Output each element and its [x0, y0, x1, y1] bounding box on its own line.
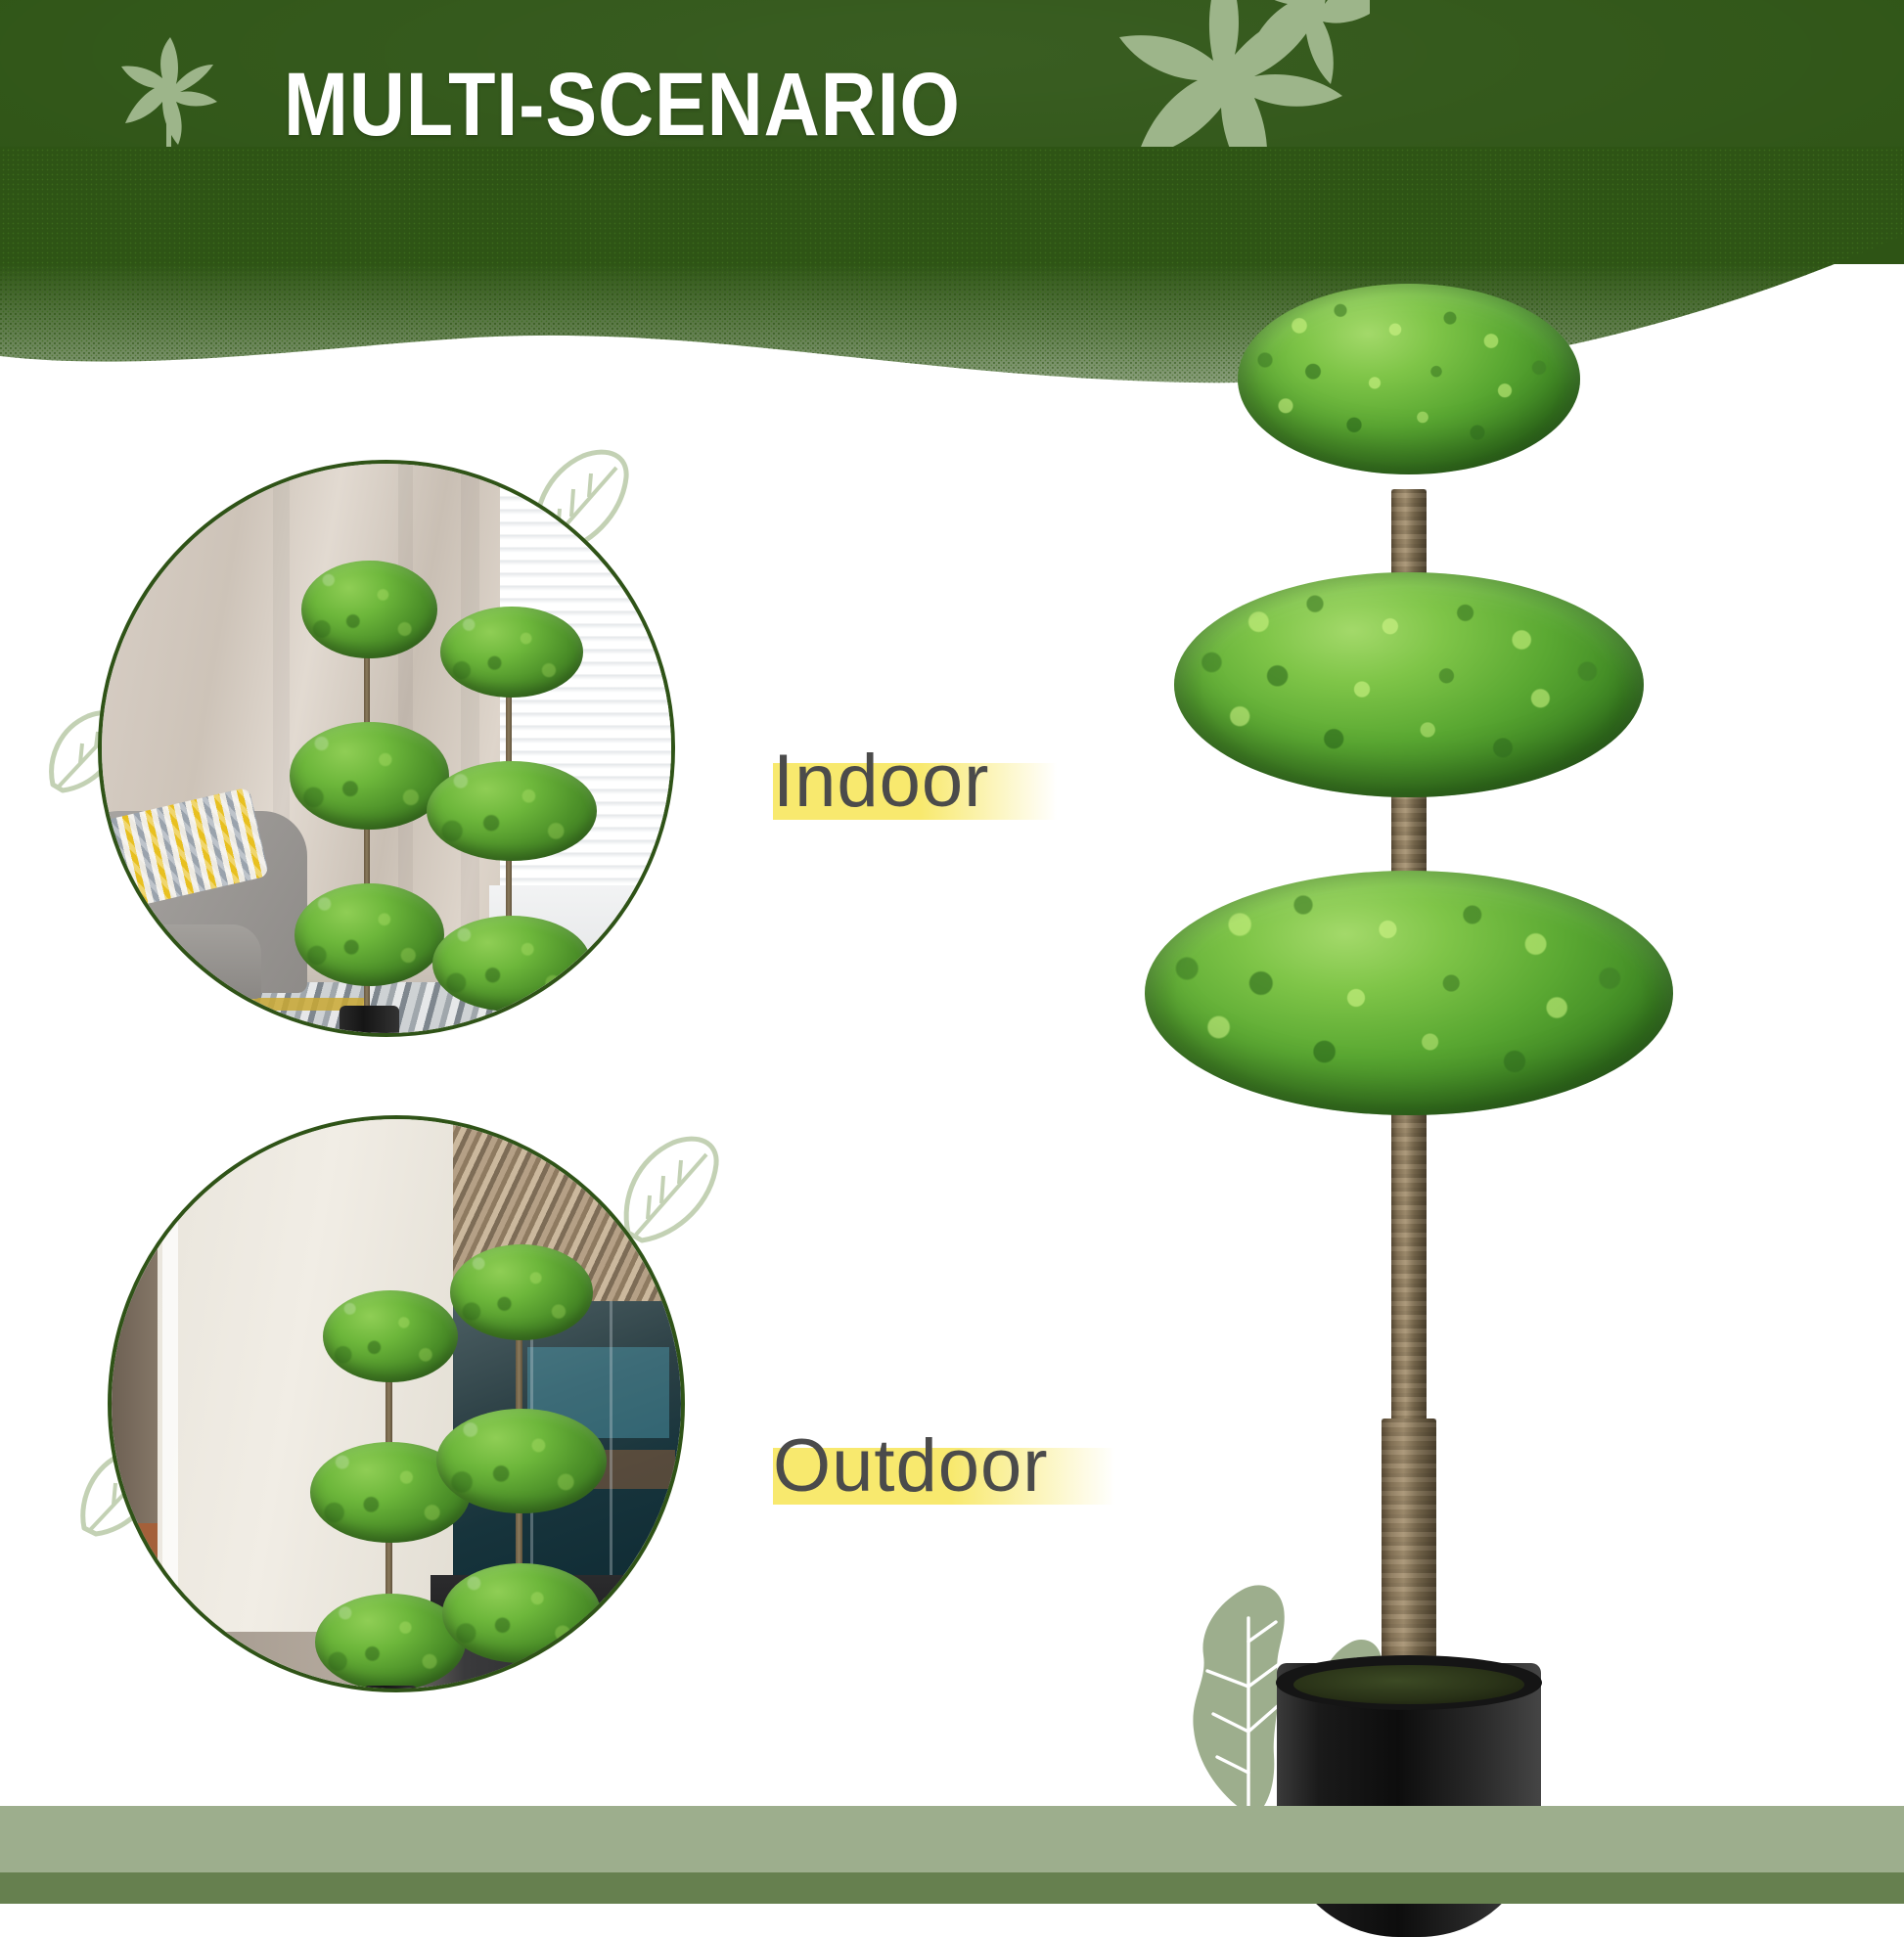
topiary-ball-top	[1238, 284, 1580, 474]
topiary-ball-bottom	[1145, 871, 1673, 1115]
indoor-label-text: Indoor	[773, 739, 990, 824]
outdoor-label: Outdoor	[773, 1423, 1049, 1509]
indoor-scene-photo	[98, 460, 675, 1037]
header-banner	[0, 0, 1904, 264]
armchair-leg	[204, 982, 213, 1016]
topiary-tree-left	[328, 1290, 453, 1692]
indoor-label: Indoor	[773, 739, 990, 824]
footer-bar-olive	[0, 1872, 1904, 1904]
wall-highlight-edge	[162, 1119, 177, 1689]
armchair-arm	[98, 924, 261, 999]
outdoor-scene-photo	[108, 1115, 685, 1692]
footer-bar-sage	[0, 1806, 1904, 1872]
topiary-tree-right	[443, 607, 580, 1038]
header-vignette	[0, 0, 1904, 264]
topiary-ball-middle	[1174, 572, 1644, 797]
pot-soil	[1293, 1665, 1524, 1704]
outdoor-label-text: Outdoor	[773, 1423, 1049, 1509]
topiary-tree-right	[453, 1244, 590, 1692]
topiary-tree-left	[307, 561, 432, 1037]
monstera-leaf-right-icon	[1076, 0, 1370, 254]
monstera-leaf-left-icon	[110, 29, 237, 166]
window-mullion	[610, 1301, 612, 1598]
product-image	[1066, 323, 1751, 1849]
